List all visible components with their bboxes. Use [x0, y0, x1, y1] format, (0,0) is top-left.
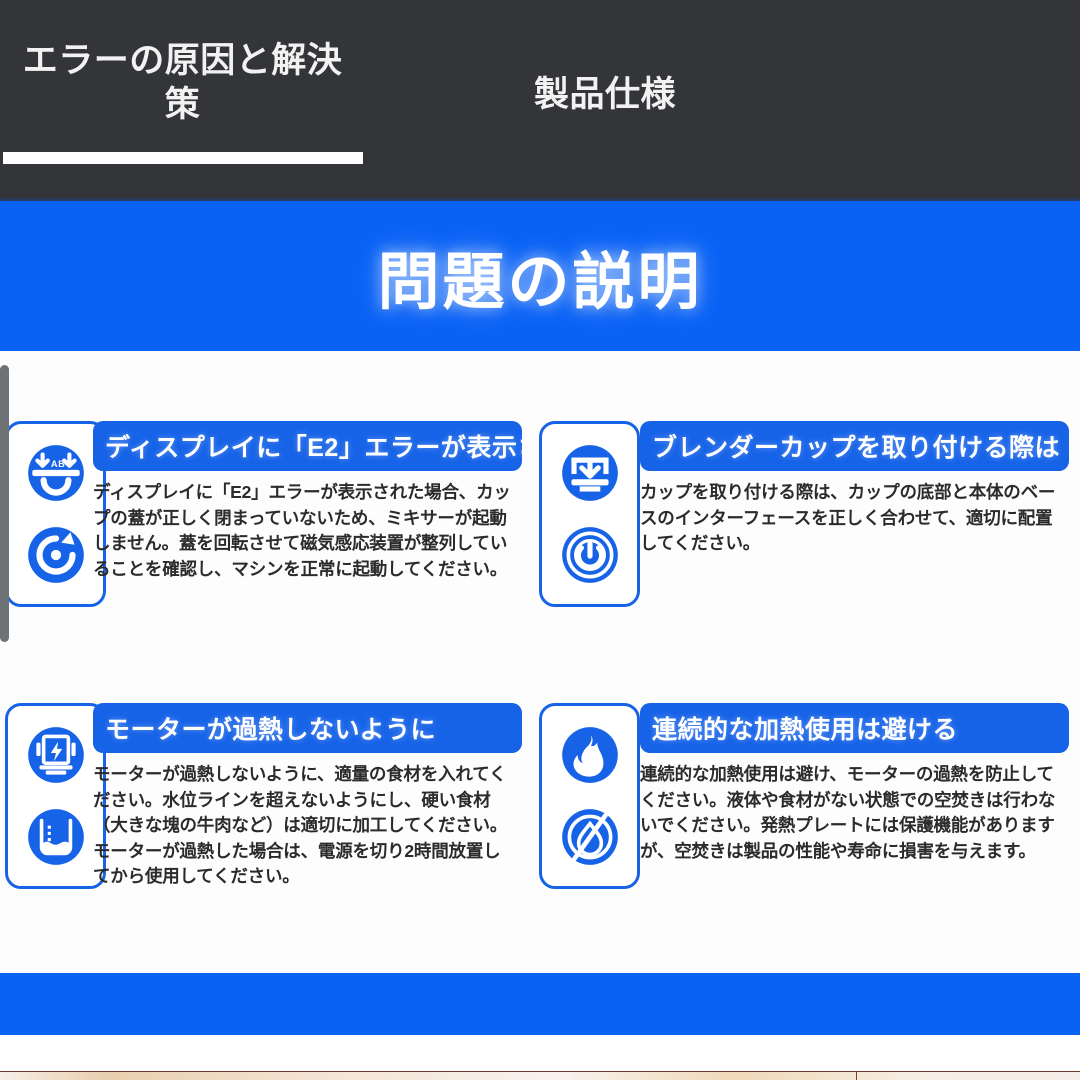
card-title-pill: ディスプレイに「E2」エラーが表示された場合 [93, 421, 522, 471]
icon-box [539, 421, 640, 607]
next-image-divider [856, 1072, 857, 1080]
card-title: モーターが過熱しないように [105, 710, 436, 746]
flame-heat-icon [557, 722, 623, 788]
card-title-pill: モーターが過熱しないように [93, 703, 522, 753]
icon-box [539, 703, 640, 889]
card-body: 連続的な加熱使用は避ける 連続的な加熱使用は避け、モーターの過熱を防止してくださ… [640, 703, 1075, 864]
motor-overheat-icon [23, 722, 89, 788]
card-description: 連続的な加熱使用は避け、モーターの過熱を防止してください。液体や食材がない状態で… [640, 762, 1058, 864]
active-tab-indicator [3, 152, 363, 164]
card-title: 連続的な加熱使用は避ける [652, 710, 958, 746]
card-title: ディスプレイに「E2」エラーが表示された場合 [105, 428, 522, 464]
content-sheet: A B ディスプレイに「E2」エラーが表示された場合 デ [0, 351, 1080, 973]
tab-error-causes-and-solutions[interactable]: エラーの原因と解決策 [0, 0, 365, 200]
card-body: ディスプレイに「E2」エラーが表示された場合 ディスプレイに「E2」エラーが表示… [93, 421, 530, 582]
tab-label: エラーの原因と解決策 [8, 39, 357, 127]
tab-label: 製品仕様 [373, 73, 837, 117]
footer-blue-bar [0, 973, 1080, 1035]
next-image-strip [0, 1071, 1080, 1080]
card-body: ブレンダーカップを取り付ける際は カップを取り付ける際は、カップの底部と本体のベ… [640, 421, 1075, 557]
section-banner: 問題の説明 [0, 201, 1080, 351]
restart-rotate-icon [23, 522, 89, 588]
product-detail-page: エラーの原因と解決策 製品仕様 問題の説明 A B [0, 0, 1080, 1080]
card-title: ブレンダーカップを取り付ける際は [652, 428, 1060, 464]
card-description: モーターが過熱しないように、適量の食材を入れてください。水位ラインを超えないよう… [93, 762, 511, 890]
insert-cup-into-base-icon [557, 440, 623, 506]
vertical-scrollbar[interactable] [0, 365, 9, 642]
card-body: モーターが過熱しないように モーターが過熱しないように、適量の食材を入れてくださ… [93, 703, 530, 890]
card-title-pill: ブレンダーカップを取り付ける際は [640, 421, 1069, 471]
power-button-icon [557, 522, 623, 588]
footer-white-gap [0, 1035, 1080, 1071]
svg-text:A: A [50, 459, 57, 469]
tab-bar: エラーの原因と解決策 製品仕様 [0, 0, 1080, 200]
no-dry-burn-icon [557, 804, 623, 870]
card-title-pill: 連続的な加熱使用は避ける [640, 703, 1069, 753]
info-card-grid: A B ディスプレイに「E2」エラーが表示された場合 デ [0, 351, 1080, 973]
water-level-cup-icon [23, 804, 89, 870]
display-error-alert-icon: A B [23, 440, 89, 506]
tab-product-specifications[interactable]: 製品仕様 [365, 0, 845, 200]
icon-box: A B [5, 421, 106, 607]
card-description: カップを取り付ける際は、カップの底部と本体のベースのインターフェースを正しく合わ… [640, 480, 1058, 557]
icon-box [5, 703, 106, 889]
svg-text:B: B [58, 459, 65, 469]
banner-title: 問題の説明 [377, 231, 702, 321]
card-description: ディスプレイに「E2」エラーが表示された場合、カップの蓋が正しく閉まっていないた… [93, 480, 511, 582]
